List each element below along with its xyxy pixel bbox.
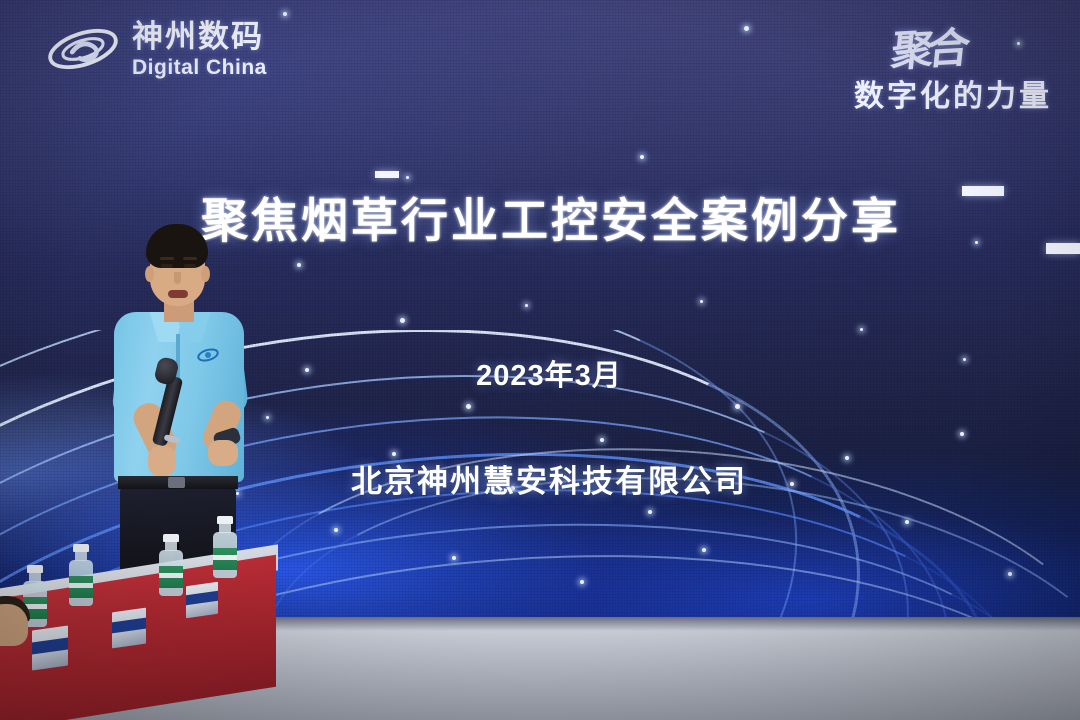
speaker-ear-right	[201, 266, 210, 282]
event-slogan: 聚合 数字化的力量	[854, 16, 1052, 115]
name-card	[32, 625, 68, 670]
slogan-sub-text: 数字化的力量	[854, 71, 1052, 115]
brand-name-en: Digital China	[132, 57, 267, 78]
galaxy-swirl-icon	[44, 18, 122, 80]
speaker-eye-right	[184, 264, 196, 268]
speaker-brow-left	[160, 257, 174, 260]
brand-logo: 神州数码 Digital China	[44, 18, 267, 80]
presentation-photo: 神州数码 Digital China 聚合 数字化的力量 聚焦烟草行业工控安全案…	[0, 0, 1080, 720]
speaker-belt-buckle	[168, 477, 185, 488]
speaker-right-hand	[208, 440, 238, 466]
speaker-eye-left	[161, 264, 173, 268]
screen-accent-bar	[375, 171, 399, 178]
brand-name-cn: 神州数码	[132, 21, 267, 52]
judges-table	[0, 562, 290, 720]
speaker-mouth	[168, 290, 188, 298]
speaker-brow-right	[183, 257, 197, 260]
name-card	[112, 608, 146, 649]
chest-emblem-icon	[197, 346, 219, 364]
speaker-hair	[146, 224, 208, 268]
slogan-brush-text: 聚合	[889, 14, 968, 79]
speaker-nose	[174, 272, 181, 284]
speaker-left-hand	[148, 446, 176, 476]
speaker-ear-left	[145, 266, 154, 282]
name-card	[186, 582, 218, 618]
